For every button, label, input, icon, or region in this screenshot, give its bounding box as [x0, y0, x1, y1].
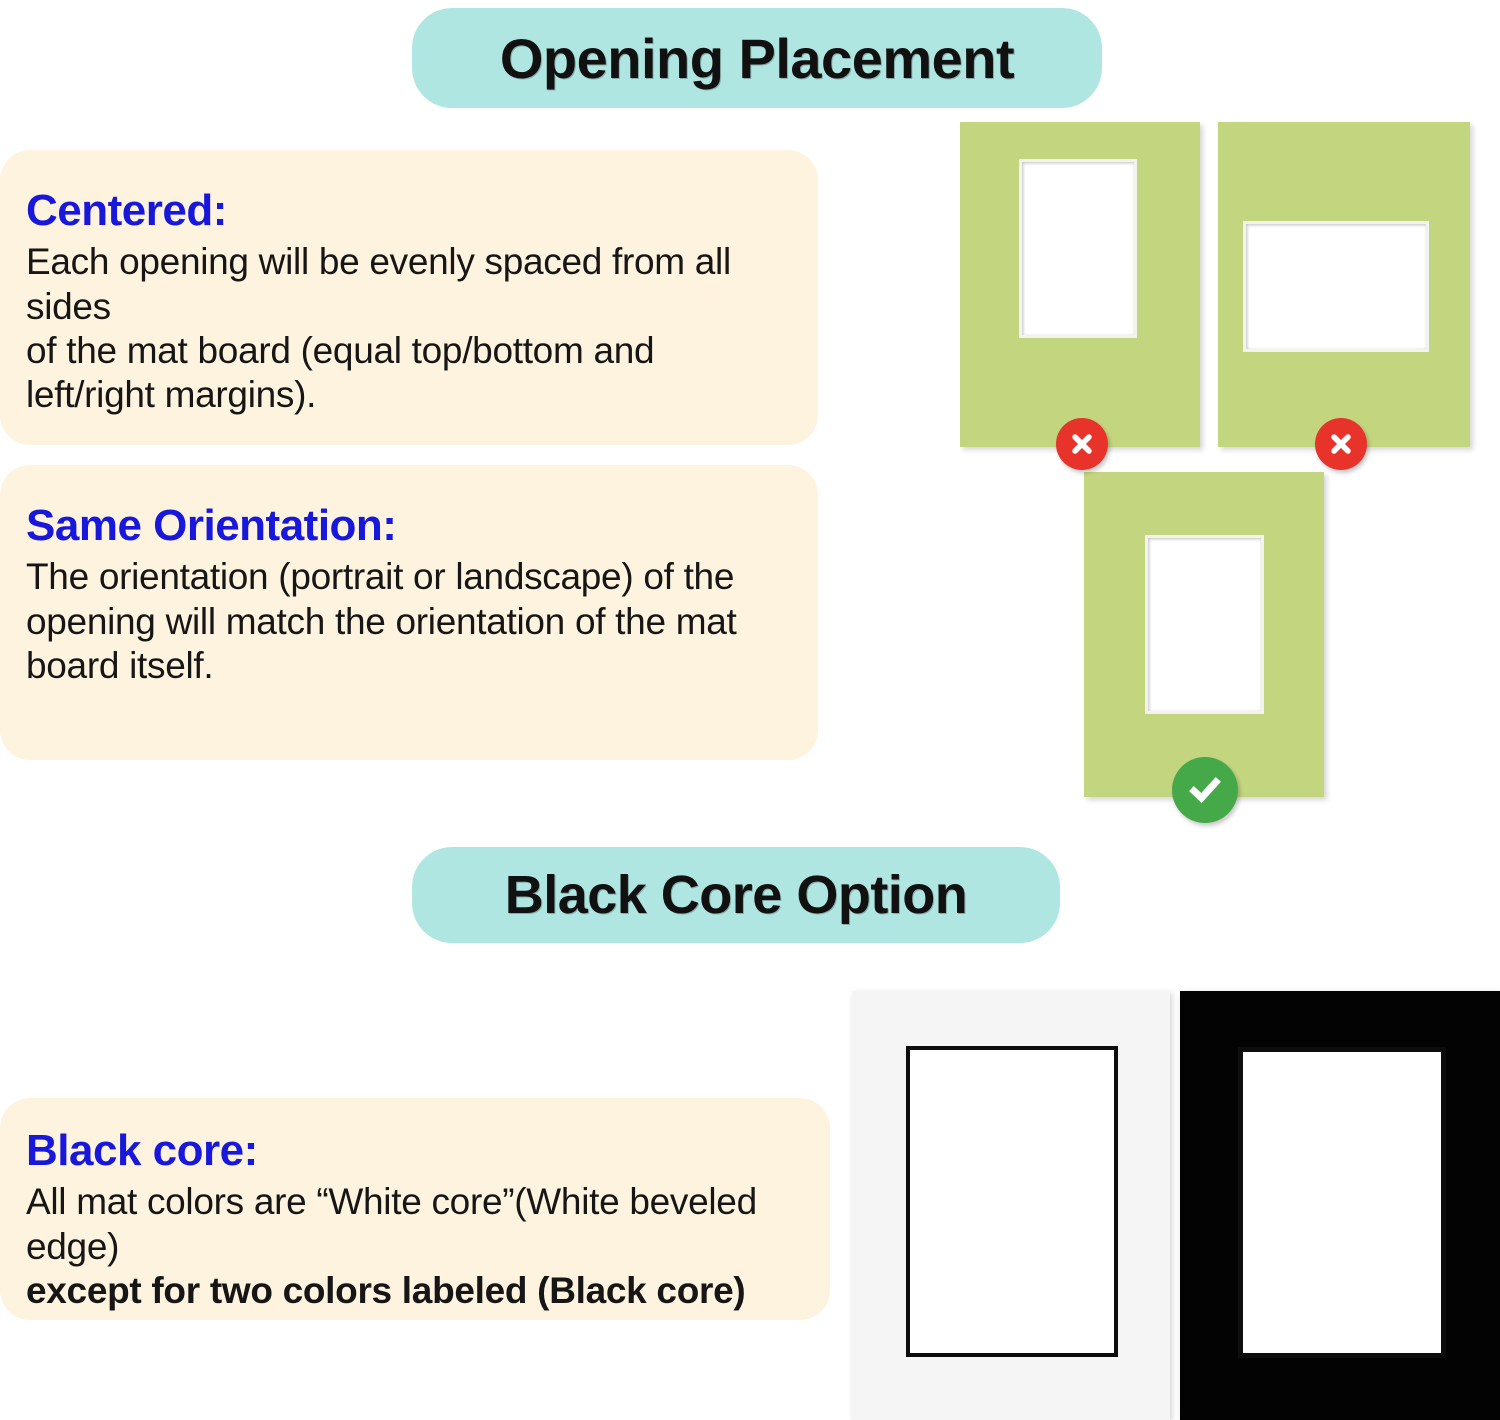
mat-opening-landscape — [1246, 224, 1426, 349]
x-circle-icon — [1315, 418, 1367, 470]
mat-offcenter-portrait-opening — [960, 122, 1200, 447]
mat-opening-portrait-centered — [1148, 538, 1261, 711]
card-black-core-line-1: All mat colors are “White core”(White be… — [26, 1180, 804, 1269]
section-header-opening-placement-label: Opening Placement — [500, 26, 1014, 91]
mat-opening-portrait — [1022, 162, 1134, 335]
mat-landscape-opening-on-portrait-mat — [1218, 122, 1470, 447]
mat-centered-portrait-opening — [1084, 472, 1324, 797]
card-centered-line-3: left/right margins). — [26, 373, 792, 417]
card-same-orientation-line-1: The orientation (portrait or landscape) … — [26, 555, 792, 599]
card-black-core-body: All mat colors are “White core”(White be… — [26, 1180, 804, 1313]
card-centered: Centered: Each opening will be evenly sp… — [0, 150, 818, 445]
card-black-core: Black core: All mat colors are “White co… — [0, 1098, 830, 1320]
card-black-core-heading: Black core: — [26, 1128, 804, 1174]
mat-opening-with-black-bevel — [1238, 1047, 1446, 1358]
card-centered-line-1: Each opening will be evenly spaced from … — [26, 240, 792, 329]
x-circle-icon — [1056, 418, 1108, 470]
section-header-black-core-option: Black Core Option — [412, 847, 1060, 943]
white-mat-black-core — [852, 991, 1170, 1420]
card-centered-line-2: of the mat board (equal top/bottom and — [26, 329, 792, 373]
mat-opening-with-black-bevel — [906, 1046, 1118, 1357]
infographic-page: Opening Placement Centered: Each opening… — [0, 0, 1500, 1420]
black-mat-black-core — [1180, 991, 1500, 1420]
card-same-orientation-line-2: opening will match the orientation of th… — [26, 600, 792, 644]
section-header-black-core-option-label: Black Core Option — [505, 864, 968, 926]
card-same-orientation-body: The orientation (portrait or landscape) … — [26, 555, 792, 688]
section-header-opening-placement: Opening Placement — [412, 8, 1102, 108]
check-circle-icon — [1172, 757, 1238, 823]
card-centered-body: Each opening will be evenly spaced from … — [26, 240, 792, 418]
card-centered-heading: Centered: — [26, 188, 792, 234]
card-same-orientation-heading: Same Orientation: — [26, 503, 792, 549]
card-black-core-line-2: except for two colors labeled (Black cor… — [26, 1269, 804, 1313]
card-same-orientation: Same Orientation: The orientation (portr… — [0, 465, 818, 760]
card-same-orientation-line-3: board itself. — [26, 644, 792, 688]
